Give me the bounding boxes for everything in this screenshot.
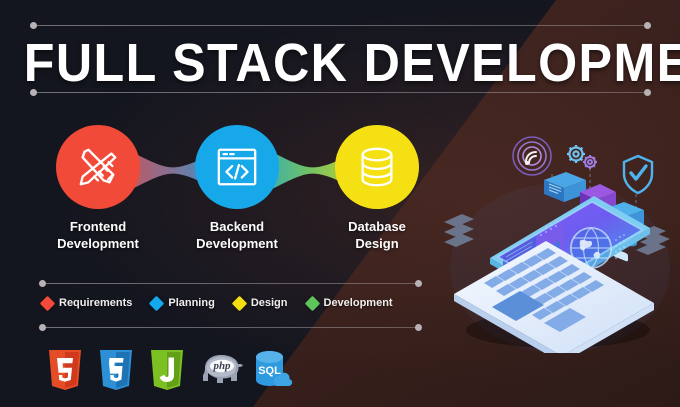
wifi-signal-icon (513, 137, 551, 175)
tech-logo-html5[interactable] (46, 348, 86, 394)
laptop-illustration (440, 118, 680, 353)
tech-logo-sql[interactable]: SQL (250, 348, 290, 394)
legend-item-planning[interactable]: Planning (151, 297, 214, 309)
rule-dot-right (415, 324, 422, 331)
pipeline-node-frontend[interactable] (56, 125, 140, 209)
svg-text:php: php (212, 360, 231, 372)
shield-check-icon (624, 156, 652, 193)
rule-dot-left (39, 280, 46, 287)
legend-marker-icon (304, 295, 320, 311)
gears-icon (567, 145, 597, 169)
pipeline-label-frontend: Frontend Development (23, 218, 173, 252)
title-rule-bottom (33, 92, 648, 93)
rule-dot-left (39, 324, 46, 331)
label-line-1: Backend (162, 218, 312, 235)
legend-rule-top (42, 283, 419, 284)
label-line-1: Frontend (23, 218, 173, 235)
legend-label: Planning (168, 297, 214, 309)
title-rule-top (33, 25, 648, 26)
legend-label: Development (324, 297, 393, 309)
poster-canvas: FULL STACK DEVELOPMENT (0, 0, 680, 407)
code-window-icon (214, 145, 260, 189)
legend: Requirements Planning Design Development (42, 297, 393, 309)
label-line-2: Development (23, 235, 173, 252)
legend-label: Design (251, 297, 288, 309)
pipeline-labels: Frontend Development Backend Development… (0, 218, 430, 266)
legend-item-design[interactable]: Design (234, 297, 288, 309)
sql-database-icon: SQL (250, 348, 294, 394)
pipeline-diagram (0, 118, 430, 223)
rule-dot-right (415, 280, 422, 287)
page-title: FULL STACK DEVELOPMENT (24, 34, 656, 92)
label-line-2: Design (302, 235, 452, 252)
pipeline-node-backend[interactable] (195, 125, 279, 209)
pipeline-label-backend: Backend Development (162, 218, 312, 252)
tech-logo-jquery[interactable] (148, 348, 188, 394)
css3-icon (97, 348, 135, 392)
ruler-pencil-icon (75, 144, 121, 190)
label-line-2: Development (162, 235, 312, 252)
database-cylinder-icon (355, 144, 399, 190)
html5-icon (46, 348, 84, 392)
jquery-icon (148, 348, 186, 392)
legend-item-requirements[interactable]: Requirements (42, 297, 132, 309)
rule-dot-right (644, 22, 651, 29)
legend-label: Requirements (59, 297, 132, 309)
pipeline-node-database[interactable] (335, 125, 419, 209)
rule-dot-left (30, 22, 37, 29)
php-elephant-icon: php (199, 348, 245, 392)
label-line-1: Database (302, 218, 452, 235)
pipeline-label-database: Database Design (302, 218, 452, 252)
legend-item-development[interactable]: Development (307, 297, 393, 309)
svg-text:SQL: SQL (258, 365, 281, 377)
legend-marker-icon (232, 295, 248, 311)
tech-logo-css3[interactable] (97, 348, 137, 394)
legend-marker-icon (149, 295, 165, 311)
rule-dot-right (644, 89, 651, 96)
isometric-laptop-artwork (440, 118, 680, 353)
rule-dot-left (30, 89, 37, 96)
tech-stack-logos: php SQL (46, 348, 290, 394)
legend-rule-bottom (42, 327, 419, 328)
tech-logo-php[interactable]: php (199, 348, 239, 394)
legend-marker-icon (40, 295, 56, 311)
